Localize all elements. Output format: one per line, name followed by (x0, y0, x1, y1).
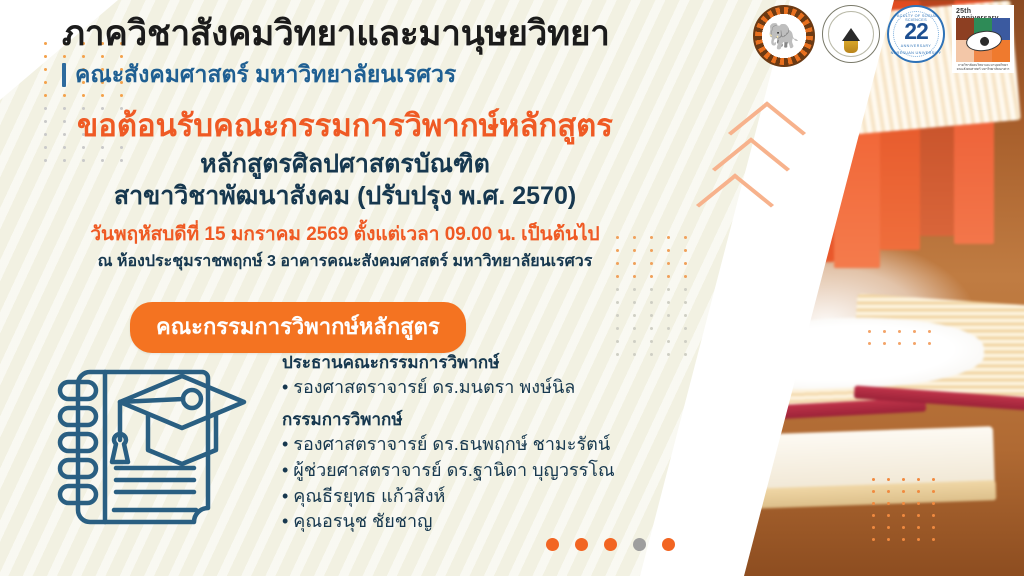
dot (662, 538, 675, 551)
list-item: • ผู้ช่วยศาสตราจารย์ ดร.ฐานิดา บุญวรรโณ (282, 458, 662, 484)
dot (546, 538, 559, 551)
dot (604, 538, 617, 551)
committee-section-badge: คณะกรรมการวิพากษ์หลักสูตร (130, 302, 466, 353)
list-item: • รองศาสตราจารย์ ดร.ธนพฤกษ์ ชามะรัตน์ (282, 432, 662, 458)
welcome-headline: ขอต้อนรับคณะกรรมการวิพากษ์หลักสูตร (0, 108, 690, 145)
faculty-subtitle: คณะสังคมศาสตร์ มหาวิทยาลัยนเรศวร (75, 57, 456, 93)
list-item: • คุณธีรยุทธ แก้วสิงห์ (282, 484, 662, 510)
poster-canvas: ภาควิชาสังคมวิทยาและมานุษยวิทยา คณะสังคม… (0, 0, 1024, 576)
dot (633, 538, 646, 551)
logo-strip: 🐘 FACULTY OF SOCIAL SCIENCES 22 ANNIVERS… (753, 5, 1014, 73)
department-title: ภาควิชาสังคมวิทยาและมานุษยวิทยา (62, 14, 762, 53)
header-block: ภาควิชาสังคมวิทยาและมานุษยวิทยา คณะสังคม… (62, 14, 762, 93)
program-name-line1: หลักสูตรศิลปศาสตรบัณฑิต (0, 148, 690, 180)
program-name-line2: สาขาวิชาพัฒนาสังคม (ปรับปรุง พ.ศ. 2570) (0, 180, 690, 212)
dot (575, 538, 588, 551)
eye-pupil (979, 36, 989, 46)
event-date-time: วันพฤหัสบดีที่ 15 มกราคม 2569 ตั้งแต่เวล… (0, 223, 690, 248)
faculty-subtitle-row: คณะสังคมศาสตร์ มหาวิทยาลัยนเรศวร (62, 57, 762, 93)
naresuan-university-seal-logo: 🐘 (753, 5, 815, 67)
badge-top-arc-text: FACULTY OF SOCIAL SCIENCES (889, 14, 943, 22)
anniversary-22-badge-logo: FACULTY OF SOCIAL SCIENCES 22 ANNIVERSAR… (887, 5, 945, 63)
committee-member-heading: กรรมการวิพากษ์ (282, 409, 662, 432)
accent-bar (62, 63, 66, 87)
seal-inner-ring (828, 11, 874, 57)
committee-list: ประธานคณะกรรมการวิพากษ์ • รองศาสตราจารย์… (282, 352, 662, 535)
event-venue: ณ ห้องประชุมราชพฤกษ์ 3 อาคารคณะสังคมศาสต… (0, 252, 690, 273)
list-item: • คุณอรนุช ชัยชาญ (282, 509, 662, 535)
list-item: • รองศาสตราจารย์ ดร.มนตรา พงษ์นิล (282, 375, 662, 401)
stupa-icon (842, 28, 860, 41)
anniversary-25-badge-logo: 25th Anniversary ภาควิชาสังคมวิทยาและมาน… (952, 5, 1014, 73)
committee-chair-heading: ประธานคณะกรรมการวิพากษ์ (282, 352, 662, 375)
main-title-block: ขอต้อนรับคณะกรรมการวิพากษ์หลักสูตร หลักส… (0, 108, 690, 273)
decorative-dot-row (546, 538, 675, 551)
anniversary-25-caption: ภาควิชาสังคมวิทยาและมานุษยวิทยา คณะสังคม… (956, 63, 1010, 71)
elephant-icon: 🐘 (768, 23, 800, 49)
graduation-notebook-icon (52, 358, 252, 538)
list-spacer (282, 400, 662, 409)
badge-bottom-arc-text: NARESUAN UNIVERSITY (889, 51, 943, 55)
faculty-social-sciences-seal-logo (822, 5, 880, 63)
